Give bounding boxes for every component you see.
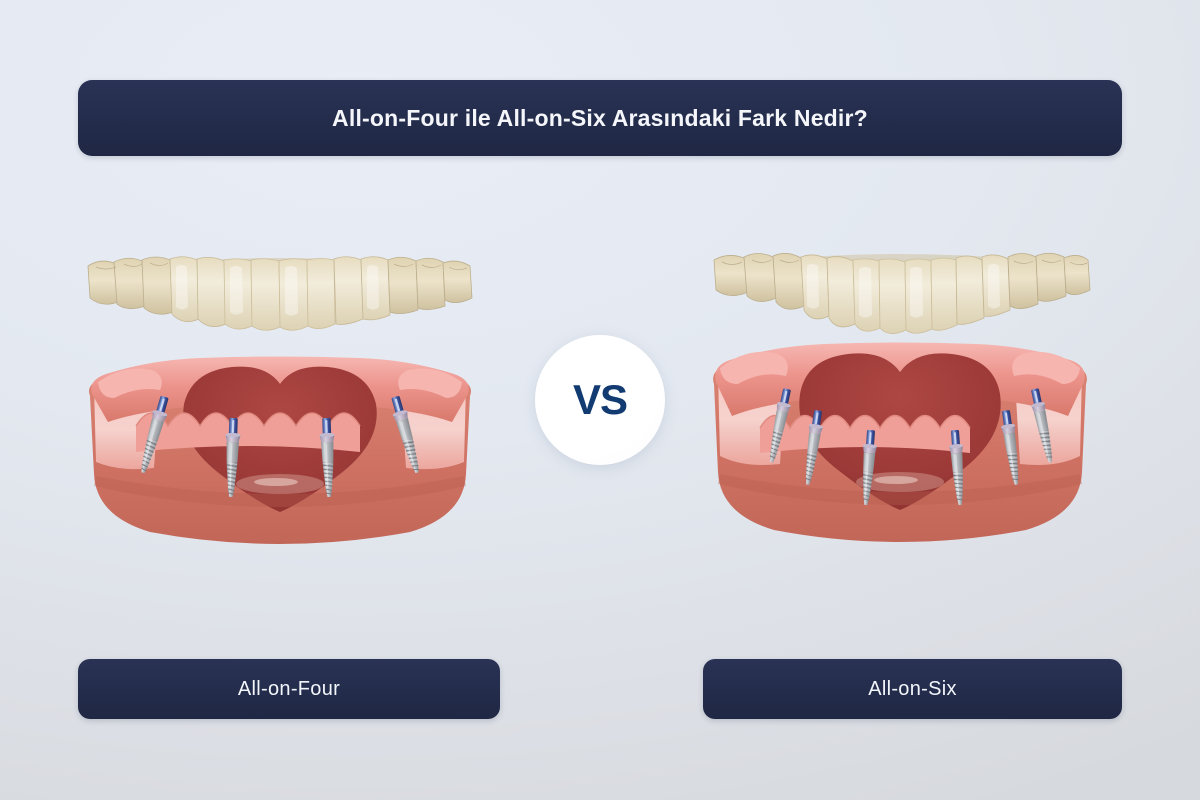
all-on-four-label: All-on-Four xyxy=(238,678,340,701)
all-on-six-label: All-on-Six xyxy=(868,678,957,701)
denture-arch xyxy=(88,257,472,331)
vs-label: VS xyxy=(573,376,627,424)
vs-badge: VS xyxy=(535,335,665,465)
lower-jaw xyxy=(713,343,1087,543)
all-on-four-illustration xyxy=(80,236,480,566)
all-on-four-label-banner: All-on-Four xyxy=(78,659,500,719)
denture-arch xyxy=(714,253,1090,333)
all-on-six-illustration xyxy=(700,236,1100,566)
page-title-banner: All-on-Four ile All-on-Six Arasındaki Fa… xyxy=(78,80,1122,156)
all-on-six-label-banner: All-on-Six xyxy=(703,659,1122,719)
page-title: All-on-Four ile All-on-Six Arasındaki Fa… xyxy=(332,105,868,132)
